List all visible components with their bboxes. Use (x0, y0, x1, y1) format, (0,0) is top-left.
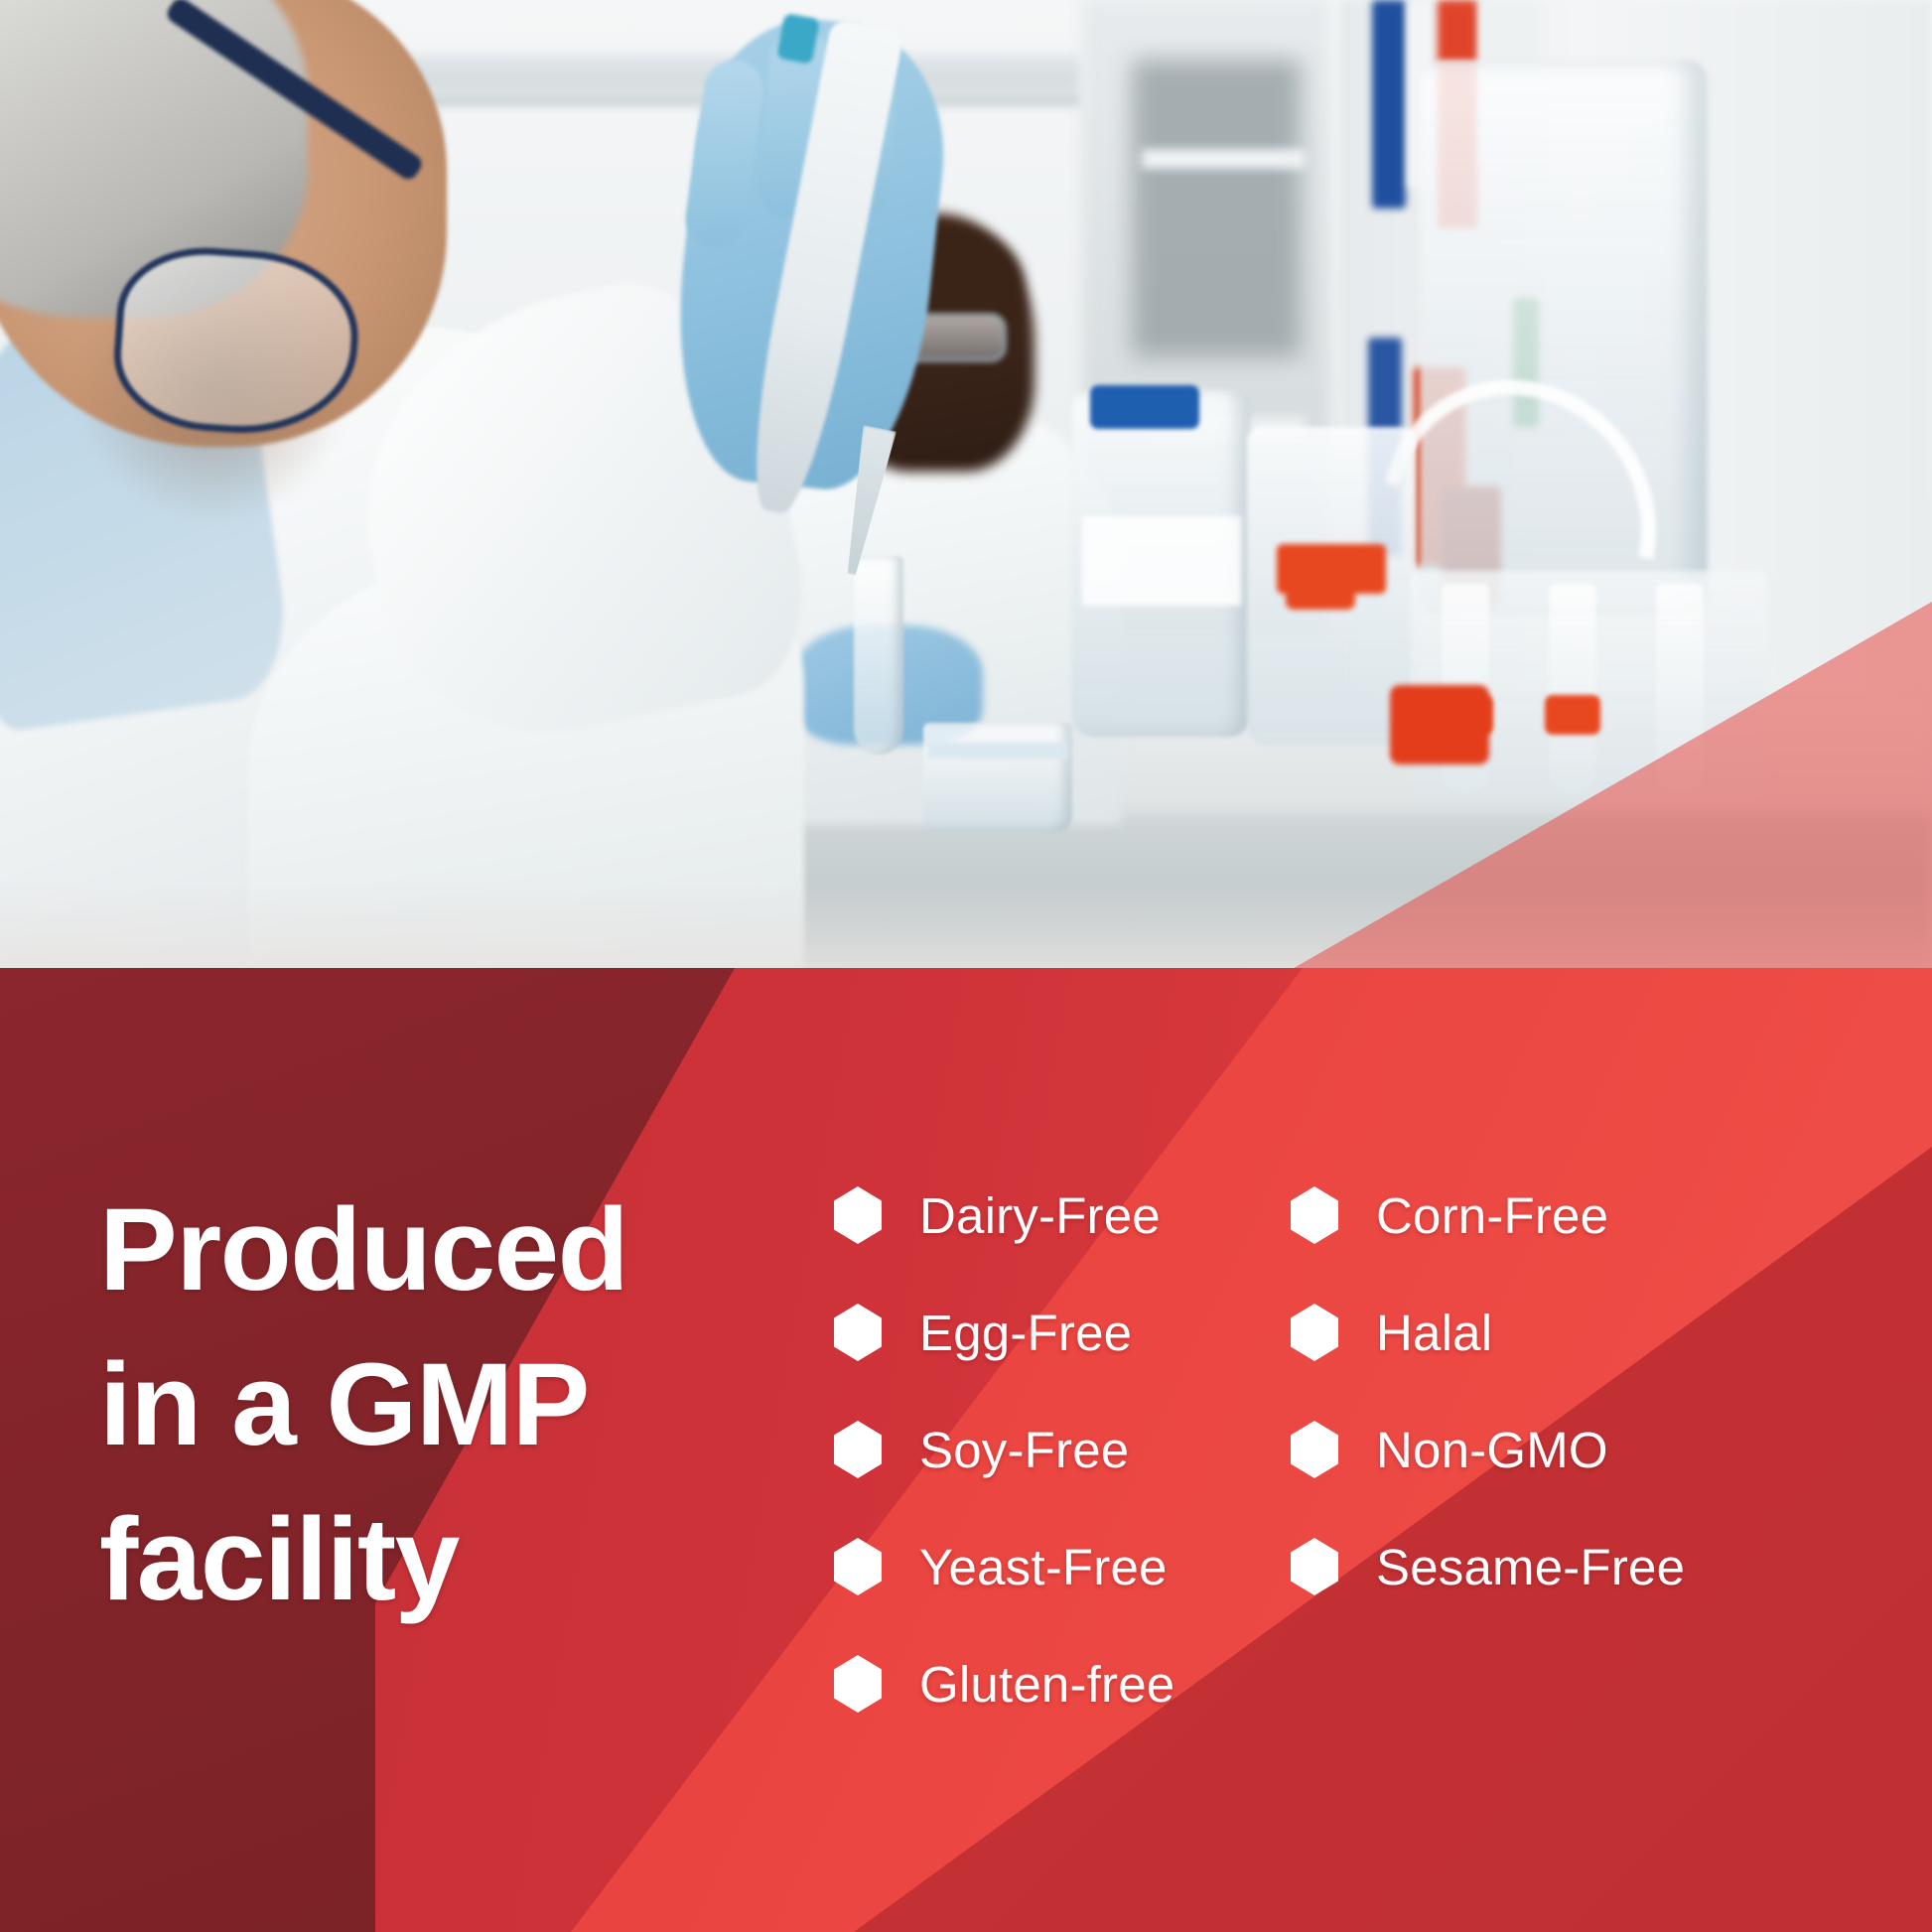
hexagon-icon (834, 1655, 882, 1713)
feature-column-right: Corn-Free Halal Non-GMO Sesame-Free (1291, 1157, 1886, 1742)
reagent-bottle-cap (1090, 385, 1199, 429)
cabinet-shelf-upper (1142, 149, 1306, 169)
feature-list: Dairy-Free Egg-Free Soy-Free Yeast-Free … (834, 1157, 1886, 1742)
feature-column-left: Dairy-Free Egg-Free Soy-Free Yeast-Free … (834, 1157, 1291, 1742)
hexagon-icon (834, 1304, 882, 1361)
large-red-cap (1390, 685, 1489, 764)
feature-label: Corn-Free (1376, 1186, 1608, 1245)
hexagon-icon (1291, 1304, 1338, 1361)
hexagon-icon (1291, 1421, 1338, 1478)
list-item: Soy-Free (834, 1391, 1291, 1508)
list-item: Non-GMO (1291, 1391, 1886, 1508)
list-item: Dairy-Free (834, 1157, 1291, 1274)
feature-label: Sesame-Free (1376, 1538, 1685, 1596)
lab-photo (0, 0, 1932, 971)
page-title: Produced in a GMP facility (99, 1173, 755, 1637)
feature-label: Gluten-free (919, 1655, 1174, 1714)
feature-label: Non-GMO (1376, 1421, 1608, 1479)
photo-bottom-fade (0, 882, 1932, 971)
hexagon-icon (834, 1421, 882, 1478)
feature-label: Soy-Free (919, 1421, 1129, 1479)
list-item: Gluten-free (834, 1625, 1291, 1742)
glass-test-tube (854, 556, 903, 755)
feature-label: Dairy-Free (919, 1186, 1161, 1245)
glass-beaker (923, 723, 1072, 832)
promotional-poster: Produced in a GMP facility Dairy-Free Eg… (0, 0, 1932, 1932)
hexagon-icon (834, 1538, 882, 1595)
shelf-box-blue-1 (1372, 0, 1406, 208)
red-bottle-cap-small (1286, 552, 1355, 610)
cabinet-interior (1132, 60, 1301, 357)
hexagon-icon (1291, 1186, 1338, 1244)
feature-label: Egg-Free (919, 1304, 1132, 1362)
rack-tube-2 (1549, 584, 1596, 792)
hexagon-icon (1291, 1538, 1338, 1595)
beaker-fluid-line (927, 743, 1068, 759)
hexagon-icon (834, 1186, 882, 1244)
feature-label: Halal (1376, 1304, 1492, 1362)
rack-tube-3 (1656, 584, 1704, 792)
list-item: Corn-Free (1291, 1157, 1886, 1274)
reagent-bottle-label (1082, 516, 1241, 606)
list-item: Sesame-Free (1291, 1508, 1886, 1625)
list-item: Egg-Free (834, 1274, 1291, 1391)
photo-canvas (0, 0, 1932, 971)
list-item: Yeast-Free (834, 1508, 1291, 1625)
rack-tube-lid-2 (1545, 695, 1600, 735)
feature-label: Yeast-Free (919, 1538, 1168, 1596)
list-item: Halal (1291, 1274, 1886, 1391)
